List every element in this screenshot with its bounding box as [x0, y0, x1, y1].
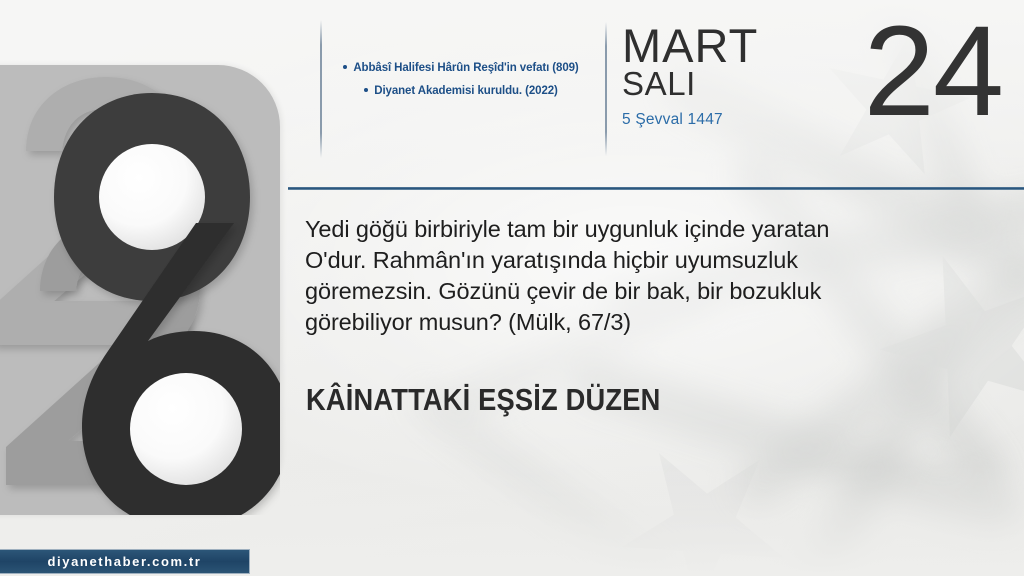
event-item: Diyanet Akademisi kuruldu. (2022): [330, 85, 592, 97]
event-item: Abbâsî Halifesi Hârûn Reşîd'in vefatı (8…: [330, 62, 592, 74]
verse-line: O'dur. Rahmân'ın yaratışında hiçbir uyum…: [305, 245, 915, 276]
month-label: MART: [622, 24, 852, 67]
year-logo-2026: [0, 65, 280, 515]
day-number: 24: [864, 8, 1002, 136]
header-separator-rule: [288, 187, 1024, 190]
verse-text: Yedi göğü birbiriyle tam bir uygunluk iç…: [305, 214, 915, 338]
historical-events-list: Abbâsî Halifesi Hârûn Reşîd'in vefatı (8…: [330, 62, 592, 108]
verse-line: Yedi göğü birbiriyle tam bir uygunluk iç…: [305, 214, 915, 245]
headline-title: KÂİNATTAKİ EŞSİZ DÜZEN: [306, 384, 660, 415]
header-divider-right: [605, 22, 607, 156]
date-block: MART SALI 5 Şevval 1447: [622, 24, 852, 129]
website-url-label: diyanethaber.com.tr: [48, 554, 202, 569]
event-label: Diyanet Akademisi kuruldu. (2022): [374, 85, 558, 97]
event-label: Abbâsî Halifesi Hârûn Reşîd'in vefatı (8…: [353, 62, 578, 74]
hijri-date-label: 5 Şevval 1447: [622, 111, 852, 129]
weekday-label: SALI: [622, 67, 852, 102]
header-divider-left: [320, 20, 322, 158]
bullet-icon: [364, 88, 368, 92]
verse-line: göremezsin. Gözünü çevir de bir bak, bir…: [305, 276, 915, 307]
website-url-bar[interactable]: diyanethaber.com.tr: [0, 549, 250, 574]
bullet-icon: [343, 65, 347, 69]
calendar-page: Abbâsî Halifesi Hârûn Reşîd'in vefatı (8…: [0, 0, 1024, 576]
verse-line: görebiliyor musun? (Mülk, 67/3): [305, 307, 915, 338]
